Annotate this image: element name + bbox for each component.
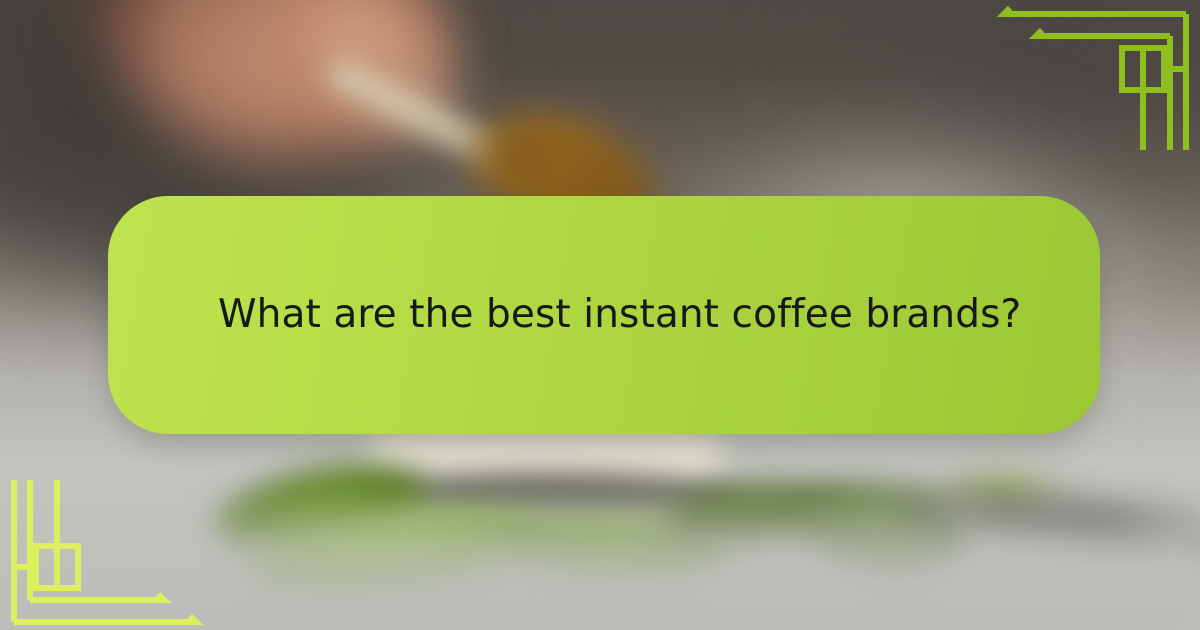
question-text: What are the best instant coffee brands? <box>218 291 1021 339</box>
question-card[interactable]: What are the best instant coffee brands? <box>108 196 1100 434</box>
page-root: What are the best instant coffee brands? <box>0 0 1200 630</box>
counter-surface <box>0 480 1200 630</box>
